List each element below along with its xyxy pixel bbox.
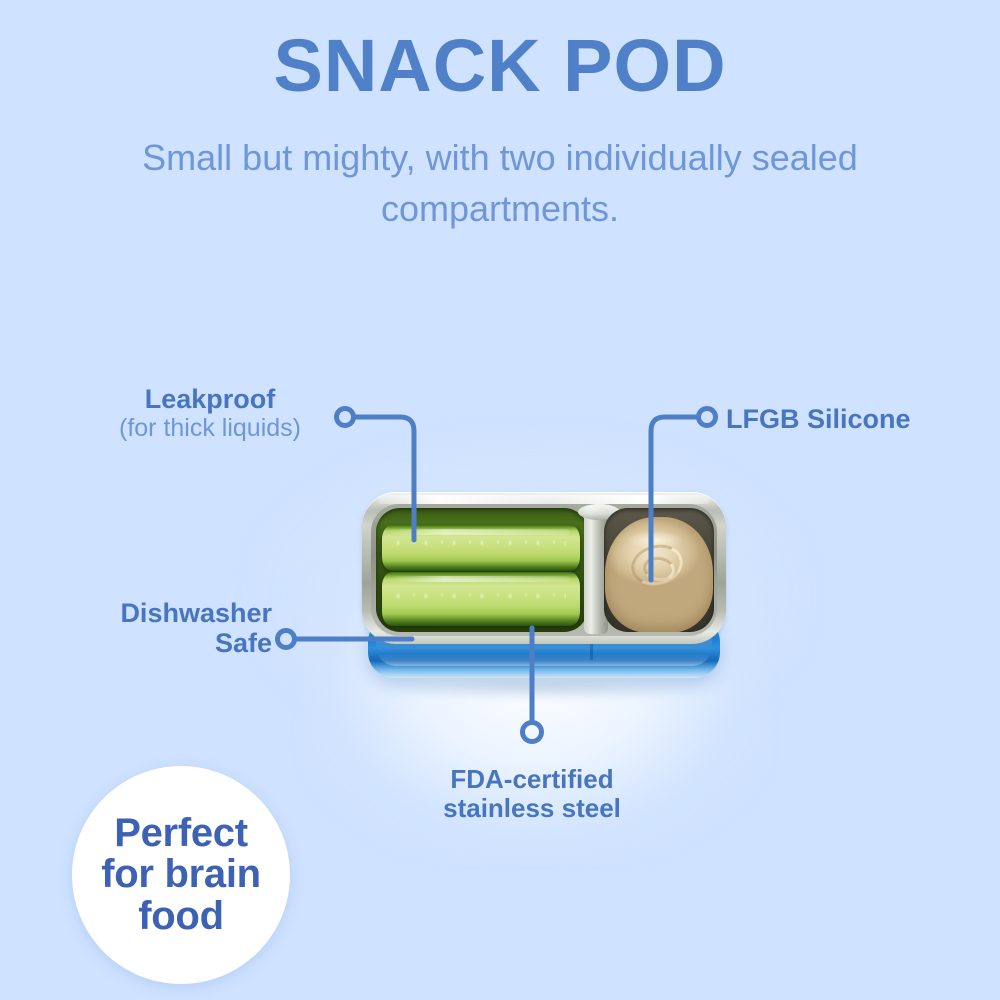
infographic-canvas: SNACK POD Small but mighty, with two ind…	[0, 0, 1000, 1000]
brain-food-badge: Perfect for brain food	[72, 766, 290, 984]
connector-dot-dishwasher	[278, 631, 295, 648]
left-compartment	[376, 508, 588, 632]
cucumber-sheen	[390, 576, 570, 582]
callout-lfgb-silicone: LFGB Silicone	[726, 404, 966, 434]
callout-dishwasher-safe: Dishwasher Safe	[50, 598, 272, 658]
callout-dishwasher-line2: Safe	[50, 628, 272, 658]
callout-leakproof: Leakproof (for thick liquids)	[60, 384, 360, 442]
snack-pod-product-image	[362, 488, 726, 688]
connector-dot-lfgb	[699, 409, 716, 426]
callout-fda-line2: stainless steel	[412, 794, 652, 823]
hummus-scoop	[605, 517, 713, 632]
badge-line-3: food	[138, 894, 223, 938]
callout-fda-certified: FDA-certified stainless steel	[412, 765, 652, 823]
cucumber-spear-top	[382, 525, 580, 571]
callout-leakproof-subtitle: (for thick liquids)	[60, 414, 360, 442]
callout-dishwasher-line1: Dishwasher	[50, 598, 272, 628]
cucumber-seed-row	[392, 535, 566, 551]
badge-line-1: Perfect	[114, 811, 248, 855]
cucumber-seed-row	[392, 588, 566, 604]
right-compartment	[604, 508, 714, 632]
page-title: SNACK POD	[0, 28, 1000, 103]
callout-lfgb-title: LFGB Silicone	[726, 404, 966, 434]
callout-leakproof-title: Leakproof	[60, 384, 360, 414]
callout-fda-line1: FDA-certified	[412, 765, 652, 794]
badge-line-2: for brain	[101, 852, 261, 896]
page-subtitle: Small but mighty, with two individually …	[110, 132, 890, 234]
badge-text: Perfect for brain food	[101, 813, 261, 937]
cucumber-spear-bottom	[382, 572, 580, 626]
stainless-steel-body	[362, 492, 726, 644]
steel-rim-gloss	[378, 495, 710, 504]
connector-dot-fda	[523, 723, 542, 742]
